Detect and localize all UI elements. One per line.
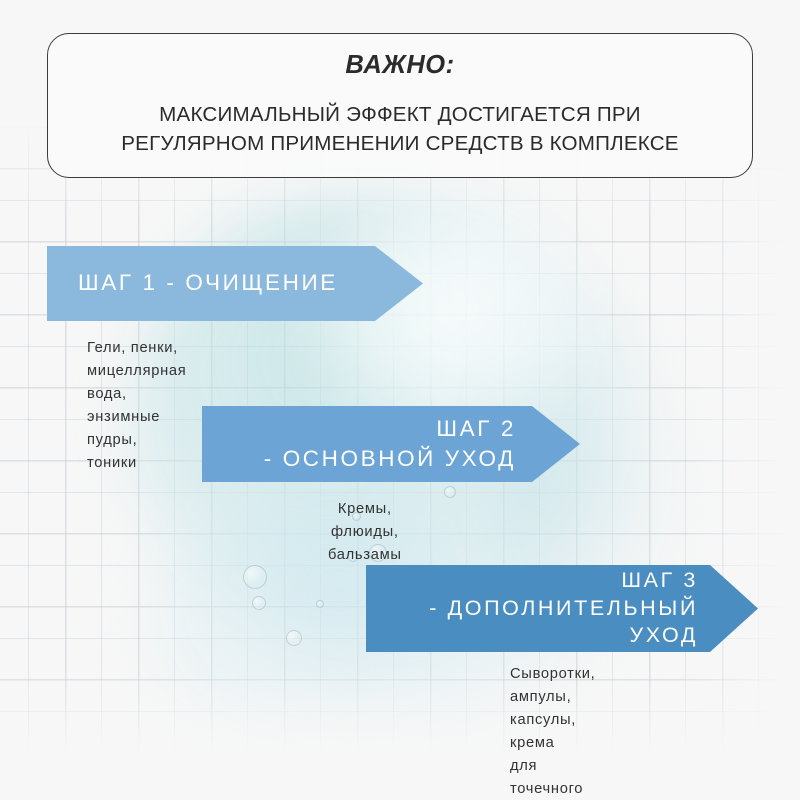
step-3-arrow-banner[interactable]: ШАГ 3 - ДОПОЛНИТЕЛЬНЫЙ УХОД <box>366 565 758 652</box>
callout-subtitle: МАКСИМАЛЬНЫЙ ЭФФЕКТ ДОСТИГАЕТСЯ ПРИ РЕГУ… <box>121 100 678 158</box>
bubble-icon <box>252 596 266 610</box>
callout-title: ВАЖНО: <box>345 51 454 79</box>
step-1-caption: Гели, пенки, мицеллярная вода, энзимные … <box>87 337 186 475</box>
step-2-label: ШАГ 2 - ОСНОВНОЙ УХОД <box>202 414 580 474</box>
bubble-icon <box>243 565 267 589</box>
important-callout-box: ВАЖНО: МАКСИМАЛЬНЫЙ ЭФФЕКТ ДОСТИГАЕТСЯ П… <box>47 33 753 178</box>
bubble-icon <box>444 486 456 498</box>
bubble-icon <box>286 630 302 646</box>
infographic-canvas: ВАЖНО: МАКСИМАЛЬНЫЙ ЭФФЕКТ ДОСТИГАЕТСЯ П… <box>0 0 800 800</box>
step-3-label: ШАГ 3 - ДОПОЛНИТЕЛЬНЫЙ УХОД <box>366 567 758 651</box>
step-1-arrow-banner[interactable]: ШАГ 1 - ОЧИЩЕНИЕ <box>47 246 423 321</box>
step-2-caption: Кремы, флюиды, бальзамы <box>328 498 402 567</box>
step-2-arrow-banner[interactable]: ШАГ 2 - ОСНОВНОЙ УХОД <box>202 406 580 482</box>
bubble-icon <box>316 600 324 608</box>
step-1-label: ШАГ 1 - ОЧИЩЕНИЕ <box>47 268 423 298</box>
step-3-caption: Сыворотки, ампулы, капсулы, крема для то… <box>510 663 595 800</box>
